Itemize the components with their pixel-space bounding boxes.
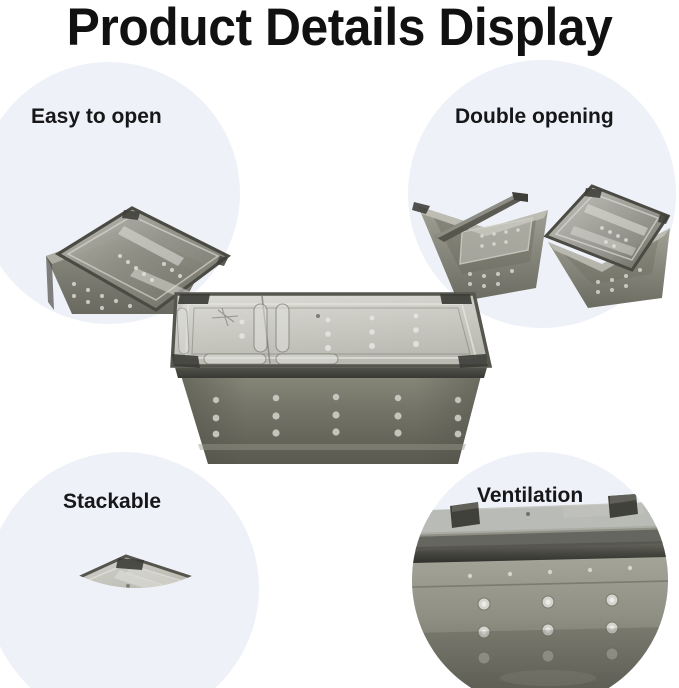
feature-label-stackable: Stackable xyxy=(63,490,161,514)
page-title: Product Details Display xyxy=(20,0,658,59)
product-image-hero xyxy=(158,278,504,474)
feature-label-easy-to-open: Easy to open xyxy=(31,105,162,129)
feature-label-double-opening: Double opening xyxy=(455,105,614,129)
feature-label-ventilation: Ventilation xyxy=(477,484,583,508)
product-details-display-page: Product Details Display xyxy=(0,0,679,688)
